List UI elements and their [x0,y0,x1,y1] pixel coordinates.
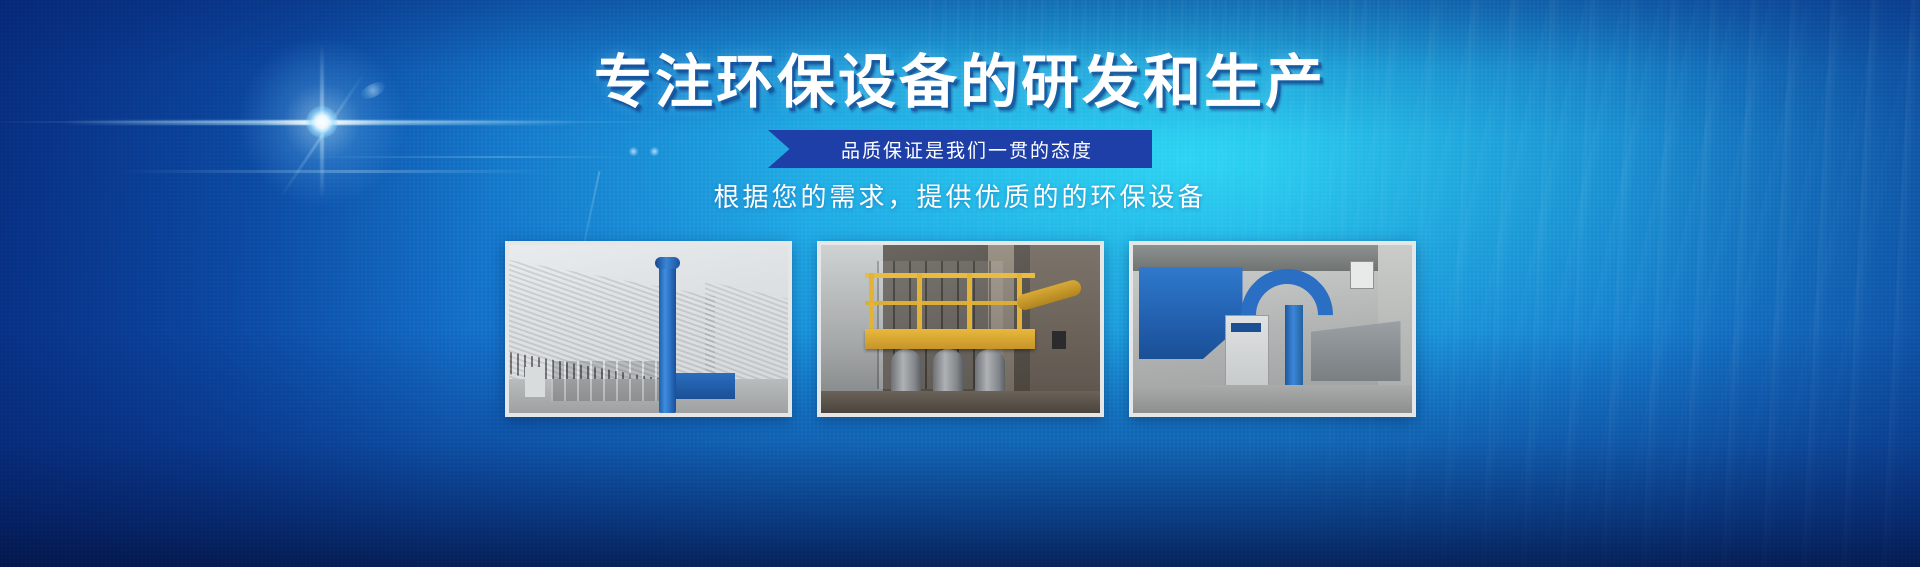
duct-downpipe [1285,305,1303,397]
building-door [525,367,545,397]
promo-banner: 专注环保设备的研发和生产 品质保证是我们一贯的态度 根据您的需求，提供优质的的环… [0,0,1920,567]
railing-post [967,273,972,333]
banner-tagline: 根据您的需求，提供优质的的环保设备 [0,177,1920,214]
control-cabinet-panel [1231,323,1261,332]
platform-railing-top [865,273,1035,278]
wall-right [1030,245,1100,413]
photo-strip [0,241,1920,417]
control-box [1052,331,1066,349]
quality-badge-label: 品质保证是我们一贯的态度 [827,136,1093,163]
banner-headline: 专注环保设备的研发和生产 [0,54,1920,112]
exhaust-stack [659,263,676,413]
banner-content: 专注环保设备的研发和生产 品质保证是我们一贯的态度 根据您的需求，提供优质的的环… [0,0,1920,567]
equipment-unit-secondary [673,373,735,399]
photo-platform-equipment[interactable] [817,241,1104,417]
photo-factory-exterior[interactable] [505,241,792,417]
railing-post [869,273,874,333]
railing-post [917,273,922,333]
photo-factory-exterior-image [509,245,788,413]
photo-blue-ductwork[interactable] [1129,241,1416,417]
quality-badge: 品质保证是我们一贯的态度 [768,130,1152,168]
platform-deck [865,329,1035,349]
exhaust-stack-cap [655,257,680,269]
photo-blue-ductwork-image [1133,245,1412,413]
floor-region [1133,385,1412,413]
window [1350,261,1374,289]
equipment-unit [551,361,671,401]
floor-region [821,391,1100,413]
photo-platform-equipment-image [821,245,1100,413]
platform-railing-mid [865,301,1035,305]
